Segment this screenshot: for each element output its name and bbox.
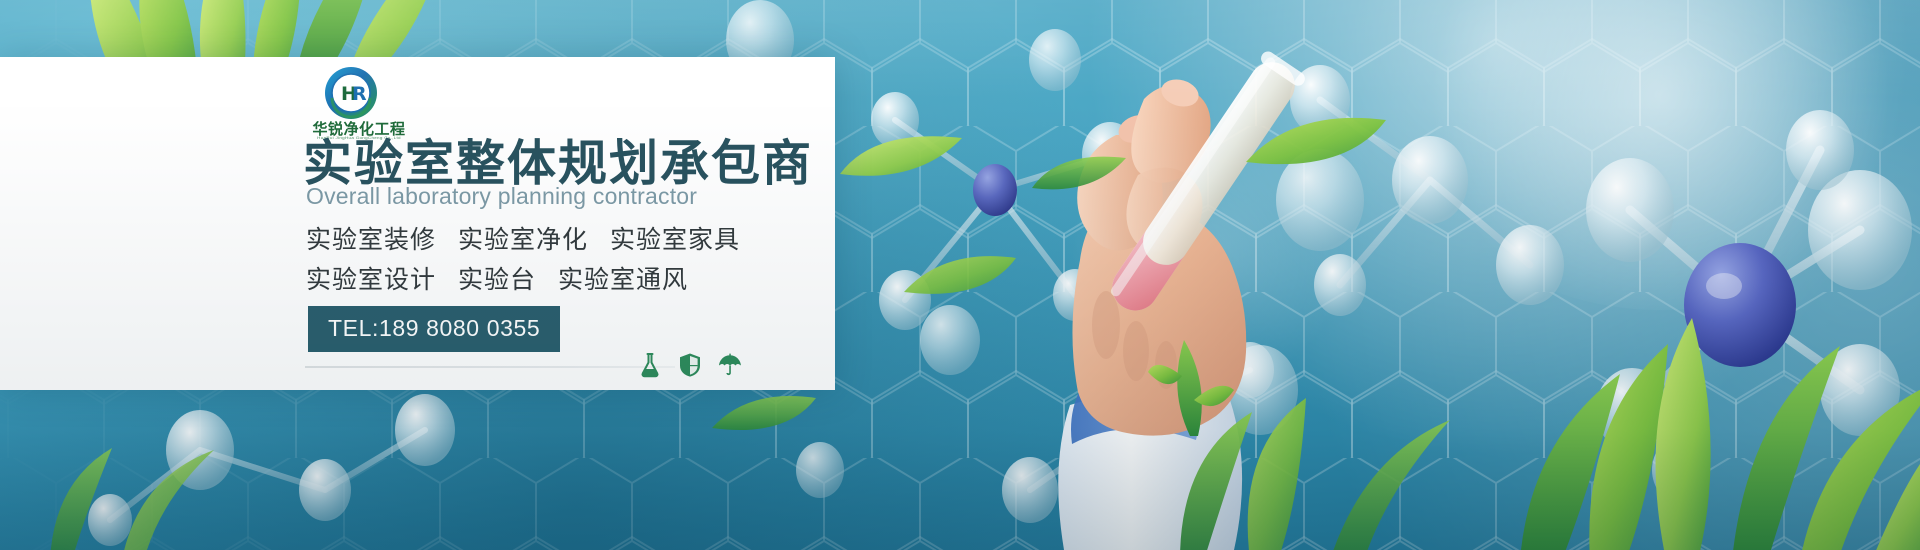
floating-leaf-e: [1030, 150, 1130, 198]
bamboo-grass-bottom-left: [30, 400, 290, 550]
badge-row: [638, 352, 742, 378]
service-item: 实验室净化: [458, 225, 588, 254]
page-title: 实验室整体规划承包商: [303, 139, 813, 188]
service-item: 实验室通风: [558, 265, 688, 294]
phone-button[interactable]: TEL:189 8080 0355: [308, 306, 560, 352]
content-panel: H R 华锐净化工程 HuaRui JingHua GongCheng Co.,…: [0, 57, 835, 390]
flask-icon: [638, 352, 662, 378]
floating-leaf-c: [836, 126, 966, 186]
services-line-1: 实验室装修实验室净化实验室家具: [306, 220, 740, 256]
logo[interactable]: H R 华锐净化工程 HuaRui JingHua GongCheng Co.,…: [305, 65, 410, 140]
bamboo-grass-bottom-mid: [1140, 330, 1470, 550]
svg-text:R: R: [352, 83, 367, 105]
service-item: 实验室家具: [610, 225, 740, 254]
bamboo-grass-bottom-right: [1480, 250, 1920, 550]
divider: [305, 366, 675, 368]
floating-leaf-d: [900, 250, 1020, 306]
page-subtitle: Overall laboratory planning contractor: [306, 183, 697, 210]
services-line-2: 实验室设计实验台实验室通风: [306, 260, 688, 296]
umbrella-icon: [718, 352, 742, 378]
service-item: 实验室装修: [306, 225, 436, 254]
service-item: 实验室设计: [306, 265, 436, 294]
floating-leaf-f: [1240, 110, 1390, 180]
hr-monogram-logo-icon: H R: [323, 65, 379, 121]
shield-icon: [678, 352, 702, 378]
floating-leaf-b: [710, 392, 820, 442]
banner-stage: H R 华锐净化工程 HuaRui JingHua GongCheng Co.,…: [0, 0, 1920, 550]
service-item: 实验台: [458, 265, 536, 294]
